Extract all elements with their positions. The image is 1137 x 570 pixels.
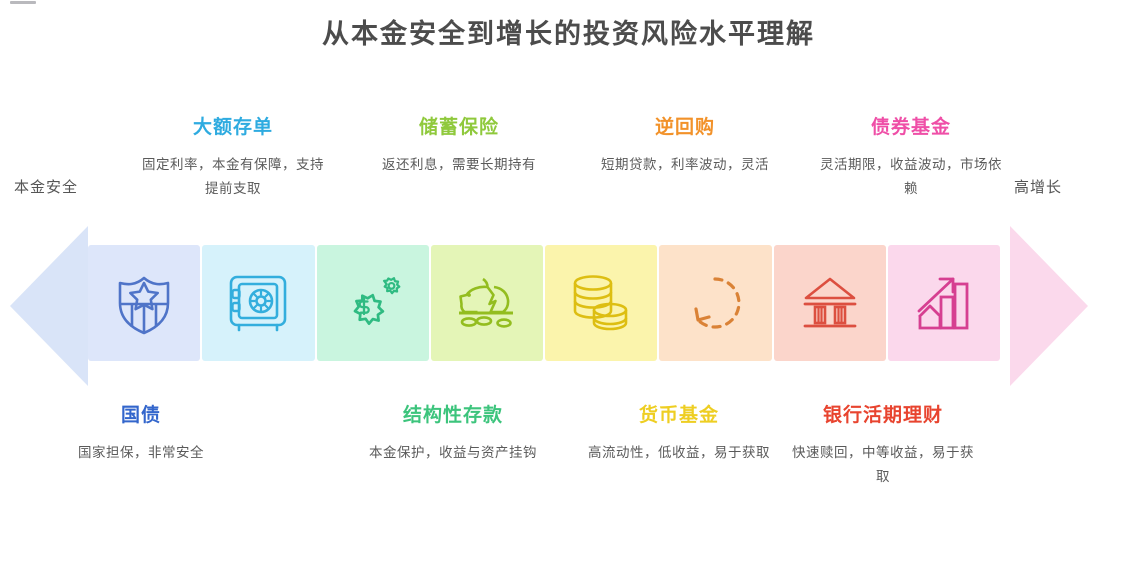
safe-vault-icon xyxy=(227,272,289,334)
tile-growth-chart[interactable] xyxy=(888,245,1000,361)
callout-title: 银行活期理财 xyxy=(790,400,976,427)
risk-spectrum-strip xyxy=(88,245,1000,361)
callout-description: 短期贷款，利率波动，灵活 xyxy=(592,153,778,177)
bank-building-icon xyxy=(799,274,861,332)
tile-broken-piggy[interactable] xyxy=(431,245,543,361)
axis-label-right: 高增长 xyxy=(1014,176,1062,197)
callout-description: 高流动性，低收益，易于获取 xyxy=(586,441,772,465)
tile-shield-star[interactable] xyxy=(88,245,200,361)
page-title: 从本金安全到增长的投资风险水平理解 xyxy=(0,12,1137,51)
callout-title: 国债 xyxy=(48,400,234,427)
callout-title: 逆回购 xyxy=(592,112,778,139)
tile-gears-dollar[interactable] xyxy=(317,245,429,361)
tile-bank-building[interactable] xyxy=(774,245,886,361)
callout-bottom-2[interactable]: 货币基金高流动性，低收益，易于获取 xyxy=(586,400,772,465)
callout-description: 快速赎回，中等收益，易于获取 xyxy=(790,441,976,488)
callout-title: 债券基金 xyxy=(818,112,1004,139)
top-left-tick-mark xyxy=(10,1,36,4)
coin-stack-icon xyxy=(569,272,633,334)
callout-title: 货币基金 xyxy=(586,400,772,427)
callout-title: 结构性存款 xyxy=(360,400,546,427)
callout-top-0[interactable]: 大额存单固定利率，本金有保障，支持提前支取 xyxy=(140,112,326,200)
callout-top-3[interactable]: 债券基金灵活期限，收益波动，市场依赖 xyxy=(818,112,1004,200)
circular-arrow-icon xyxy=(685,273,745,333)
callout-title: 储蓄保险 xyxy=(366,112,552,139)
callout-top-2[interactable]: 逆回购短期贷款，利率波动，灵活 xyxy=(592,112,778,177)
shield-star-icon xyxy=(114,271,174,335)
callout-top-1[interactable]: 储蓄保险返还利息，需要长期持有 xyxy=(366,112,552,177)
callout-description: 固定利率，本金有保障，支持提前支取 xyxy=(140,153,326,200)
callout-description: 灵活期限，收益波动，市场依赖 xyxy=(818,153,1004,200)
callout-title: 大额存单 xyxy=(140,112,326,139)
tile-coin-stack[interactable] xyxy=(545,245,657,361)
callout-bottom-3[interactable]: 银行活期理财快速赎回，中等收益，易于获取 xyxy=(790,400,976,488)
arrow-left-safety xyxy=(10,226,88,386)
callout-description: 返还利息，需要长期持有 xyxy=(366,153,552,177)
gears-dollar-icon xyxy=(340,272,406,334)
callout-bottom-1[interactable]: 结构性存款本金保护，收益与资产挂钩 xyxy=(360,400,546,465)
axis-label-left: 本金安全 xyxy=(14,176,78,197)
arrow-right-growth xyxy=(1010,226,1088,386)
tile-safe-vault[interactable] xyxy=(202,245,314,361)
callout-description: 国家担保，非常安全 xyxy=(48,441,234,465)
tile-circular-arrow[interactable] xyxy=(659,245,771,361)
broken-piggy-icon xyxy=(453,273,521,333)
callout-bottom-0[interactable]: 国债国家担保，非常安全 xyxy=(48,400,234,465)
growth-chart-icon xyxy=(913,273,975,333)
callout-description: 本金保护，收益与资产挂钩 xyxy=(360,441,546,465)
